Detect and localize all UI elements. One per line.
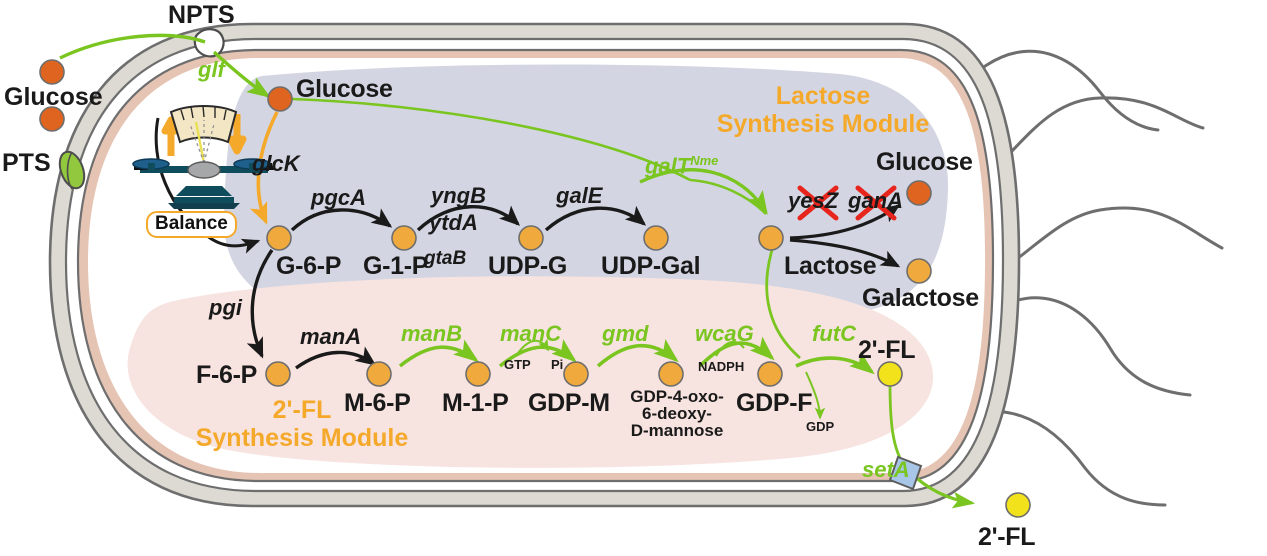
node-udpg [519, 226, 543, 250]
node-udpgal [644, 226, 668, 250]
lactose-module-line2: Synthesis Module [708, 110, 938, 138]
balance-caption: Balance [146, 211, 237, 238]
ganA-gene-label: ganA [848, 189, 903, 212]
glcK-gene-label: glcK [252, 152, 300, 175]
gdp-label: GDP [806, 420, 834, 434]
wcaG-gene-label: wcaG [695, 322, 754, 345]
futC-gene-label: futC [812, 322, 856, 345]
galactose-label: Galactose [862, 285, 979, 311]
node-m1p [466, 362, 490, 386]
pathway-diagram: Glucose PTS NPTS glf Balance Glucose glc… [0, 0, 1267, 556]
udpg-label: UDP-G [488, 253, 567, 279]
node-gdpf [758, 362, 782, 386]
fl-module-title: 2'-FL Synthesis Module [192, 396, 412, 452]
node-m6p [367, 362, 391, 386]
node-fl-internal [878, 362, 902, 386]
glucose-extracellular-label: Glucose [4, 84, 103, 110]
f6p-label: F-6-P [196, 362, 257, 388]
yngB-gene-label: yngB [431, 184, 486, 207]
pts-label: PTS [2, 150, 51, 176]
node-gdpm [564, 362, 588, 386]
node-g6p [267, 226, 291, 250]
glucose-product-label: Glucose [876, 149, 973, 175]
pi-label: Pi [551, 358, 563, 372]
fl-module-line2: Synthesis Module [192, 424, 412, 452]
fl-secreted-label: 2'-FL [978, 524, 1035, 550]
node-lactose [759, 226, 783, 250]
pgcA-gene-label: pgcA [311, 186, 366, 209]
gdpm-label: GDP-M [528, 390, 610, 416]
gdp4oxo-label: GDP-4-oxo- 6-deoxy- D-mannose [612, 388, 742, 439]
npts-transporter-icon [195, 29, 224, 56]
lactose-label: Lactose [784, 253, 876, 279]
lactose-module-title: Lactose Synthesis Module [708, 82, 938, 138]
node-glucose-out [907, 181, 931, 205]
node-fl-secreted [1006, 493, 1030, 517]
setA-gene-label: setA [862, 458, 910, 481]
g1p-label: G-1-P [363, 253, 428, 279]
glucose-internal-label: Glucose [296, 76, 393, 102]
gdp4oxo-line2: 6-deoxy- [612, 405, 742, 422]
gmd-gene-label: gmd [602, 322, 648, 345]
gtp-label: GTP [504, 358, 531, 372]
node-galactose [907, 259, 931, 283]
pgi-gene-label: pgi [209, 296, 242, 319]
node-glucose-in [268, 87, 292, 111]
m1p-label: M-1-P [442, 390, 509, 416]
g6p-label: G-6-P [276, 253, 341, 279]
node-glucose-ext-1 [40, 60, 64, 84]
nadph-label: NADPH [698, 360, 744, 374]
npts-label: NPTS [168, 2, 235, 28]
node-gdp4oxo [659, 362, 683, 386]
node-f6p [266, 362, 290, 386]
glf-gene-label: glf [198, 58, 225, 81]
manA-gene-label: manA [300, 325, 361, 348]
fl-internal-label: 2'-FL [858, 337, 915, 363]
yesZ-gene-label: yesZ [788, 189, 838, 212]
gdp4oxo-line1: GDP-4-oxo- [612, 388, 742, 405]
galT-superscript: Nme [690, 153, 718, 168]
ytdA-gene-label: ytdA [429, 211, 478, 234]
node-g1p [392, 226, 416, 250]
galE-gene-label: galE [556, 184, 602, 207]
galT-gene-label: galTNme [645, 154, 718, 177]
manB-gene-label: manB [401, 322, 462, 345]
udpgal-label: UDP-Gal [601, 253, 700, 279]
galT-base: galT [645, 153, 690, 178]
lactose-module-line1: Lactose [708, 82, 938, 110]
fl-module-line1: 2'-FL [192, 396, 412, 424]
manC-gene-label: manC [500, 322, 561, 345]
gdpf-label: GDP-F [736, 390, 812, 416]
gdp4oxo-line3: D-mannose [612, 422, 742, 439]
gtaB-gene-label: gtaB [424, 249, 466, 269]
